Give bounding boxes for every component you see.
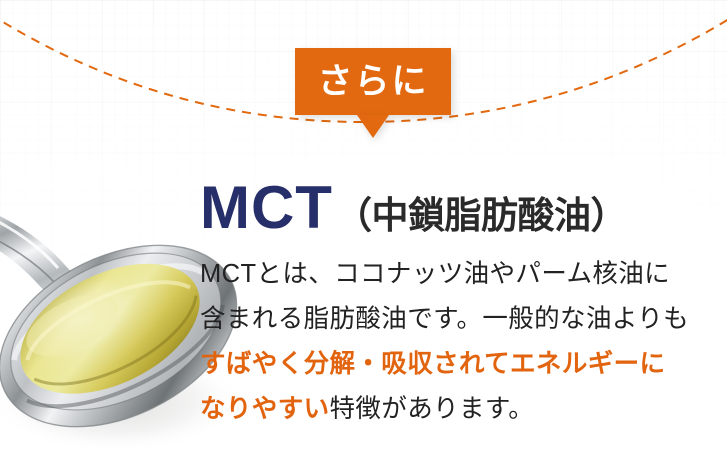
body-text-plain: 特徴があります。 — [330, 395, 535, 423]
content-block: MCT （中鎖脂肪酸油） MCTとは、ココナッツ油やパーム核油に含まれる脂肪酸油… — [200, 178, 715, 432]
callout-banner: さらに — [295, 48, 451, 115]
body-text-highlight: なりやすい — [200, 395, 330, 423]
body-text-plain: MCTとは、ココナッツ油やパーム核油に — [200, 260, 670, 288]
body-line: すばやく分解・吸収されてエネルギーに — [200, 342, 715, 387]
body-line: なりやすい特徴があります。 — [200, 387, 715, 432]
body-line: 含まれる脂肪酸油です。一般的な油よりも — [200, 297, 715, 342]
oil-pool — [0, 237, 220, 420]
promo-banner-section: さらに MCT （中鎖脂肪酸油） MCTとは、ココナッツ油やパーム核油に含まれる… — [0, 0, 727, 468]
body-text-highlight: すばやく分解・吸収されてエネルギーに — [200, 350, 665, 378]
callout-banner-label: さらに — [295, 63, 451, 98]
title-main-text: MCT — [200, 178, 333, 238]
title-sub-text: （中鎖脂肪酸油） — [335, 197, 627, 234]
oil-highlight — [17, 281, 128, 368]
spoon-handle — [0, 196, 96, 318]
handle-highlight — [0, 200, 58, 268]
body-text-plain: 含まれる脂肪酸油です。一般的な油よりも — [200, 305, 689, 333]
body-line: MCTとは、ココナッツ油やパーム核油に — [200, 252, 715, 297]
body-copy: MCTとは、ココナッツ油やパーム核油に含まれる脂肪酸油です。一般的な油よりもすば… — [200, 252, 715, 432]
page-title: MCT （中鎖脂肪酸油） — [200, 178, 715, 238]
callout-banner-tail — [357, 115, 389, 138]
handle-edge — [0, 218, 56, 284]
